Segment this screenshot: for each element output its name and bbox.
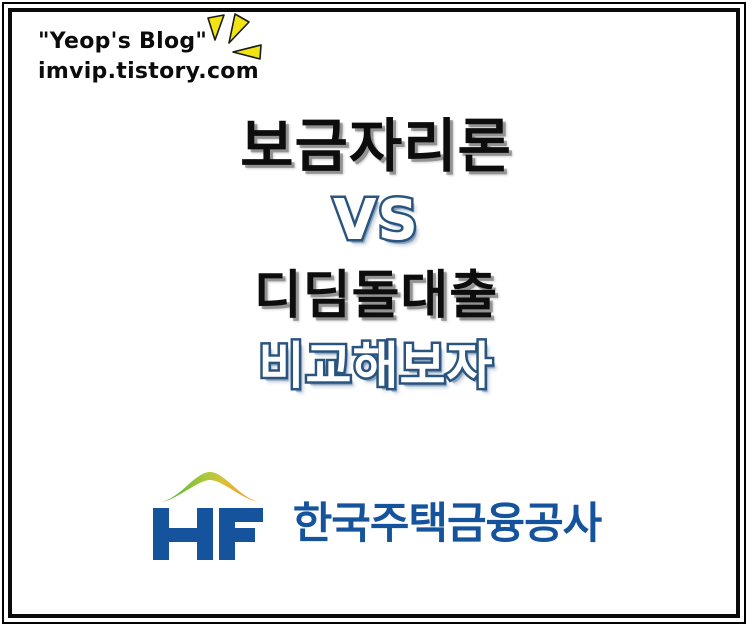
headline-block: 보금자리론 VS 디딤돌대출 비교해보자: [0, 110, 752, 400]
headline-line-1: 보금자리론: [0, 110, 752, 182]
headline-line-4: 비교해보자: [0, 332, 752, 400]
logo-lockup: 한국주택금융공사: [0, 470, 752, 562]
hf-logo-icon: [151, 470, 269, 562]
hf-wordmark: 한국주택금융공사: [293, 499, 601, 549]
poster-canvas: "Yeop's Blog" imvip.tistory.com 보금자리론 VS…: [0, 0, 752, 629]
sparkle-triangles-icon: [203, 12, 275, 66]
headline-line-3: 디딤돌대출: [0, 260, 752, 332]
headline-line-2-vs: VS: [0, 182, 752, 260]
